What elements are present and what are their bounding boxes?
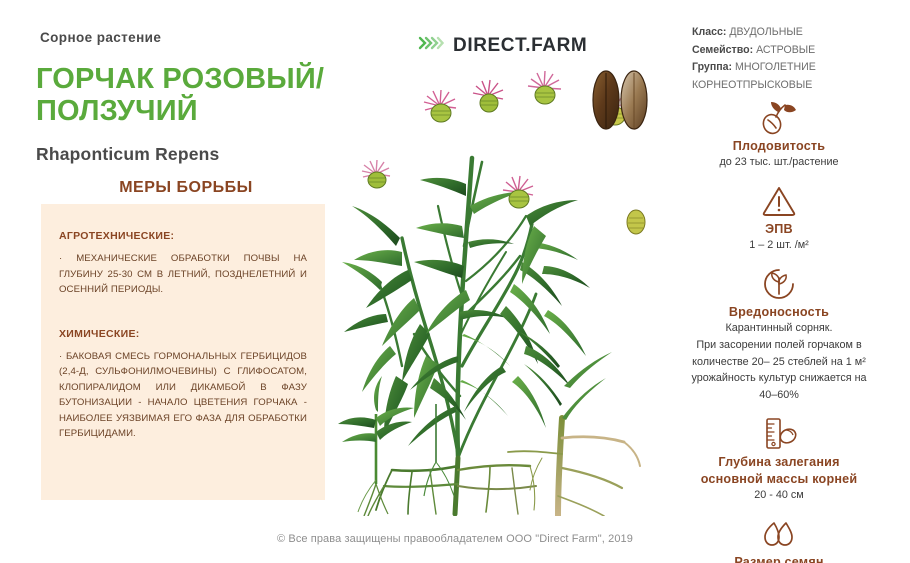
chevrons-icon (418, 34, 444, 57)
classification-row-class: Класс: ДВУДОЛЬНЫЕ (692, 24, 902, 42)
circle-leaf-icon (648, 266, 910, 302)
latin-name: Rhaponticum Repens (36, 144, 336, 165)
fact-epv: ЭПВ 1 – 2 шт. /м² (648, 183, 910, 253)
page-title-line1: ГОРЧАК РОЗОВЫЙ/ (36, 63, 336, 95)
copyright-footer: © Все права защищены правообладателем ОО… (0, 533, 910, 545)
measures-section-title: МЕРЫ БОРЬБЫ (36, 179, 336, 197)
fact-value-root-depth: 20 - 40 см (648, 488, 910, 503)
classification-key-family: Семейство: (692, 44, 753, 56)
fact-harmfulness-line4: урожайность культур снижается на (648, 371, 910, 386)
fact-value-epv: 1 – 2 шт. /м² (648, 238, 910, 253)
classification-value-class: ДВУДОЛЬНЫЕ (729, 26, 802, 38)
fact-title-epv: ЭПВ (648, 222, 910, 236)
measures-heading-chemical: ХИМИЧЕСКИЕ: (59, 328, 307, 340)
page-title: ГОРЧАК РОЗОВЫЙ/ ПОЛЗУЧИЙ (36, 63, 336, 128)
kicker-label: Сорное растение (40, 30, 336, 45)
fact-harmfulness-line1: Карантинный сорняк. (648, 321, 910, 336)
sprouting-seed-icon (648, 100, 910, 136)
page-title-line2: ПОЛЗУЧИЙ (36, 95, 336, 127)
control-measures-box: АГРОТЕХНИЧЕСКИЕ: · МЕХАНИЧЕСКИЕ ОБРАБОТК… (41, 204, 325, 500)
fact-title-root-depth-line2: основной массы корней (648, 472, 910, 486)
classification-row-group-cont: КОРНЕОТПРЫСКОВЫЕ (692, 77, 902, 95)
fact-fertility: Плодовитость до 23 тыс. шт./растение (648, 100, 910, 170)
classification-key-group: Группа: (692, 61, 732, 73)
classification-value-group: МНОГОЛЕТНИЕ (735, 61, 816, 73)
fact-harmfulness-line5: 40–60% (648, 388, 910, 403)
infographic-page: Сорное растение ГОРЧАК РОЗОВЫЙ/ ПОЛЗУЧИЙ… (0, 0, 910, 563)
classification-row-family: Семейство: АСТРОВЫЕ (692, 42, 902, 60)
classification-value-family: АСТРОВЫЕ (756, 44, 815, 56)
facts-column: Плодовитость до 23 тыс. шт./растение ЭПВ… (648, 100, 910, 563)
warning-triangle-icon (648, 183, 910, 219)
fact-title-harmfulness: Вредоносность (648, 305, 910, 319)
classification-value-group-cont: КОРНЕОТПРЫСКОВЫЕ (692, 79, 812, 91)
fact-value-fertility: до 23 тыс. шт./растение (648, 155, 910, 170)
fact-root-depth: Глубина залегания основной массы корней … (648, 416, 910, 503)
fact-harmfulness: Вредоносность Карантинный сорняк. При за… (648, 266, 910, 403)
classification-block: Класс: ДВУДОЛЬНЫЕ Семейство: АСТРОВЫЕ Гр… (692, 24, 902, 94)
measures-body-agrotechnical: · МЕХАНИЧЕСКИЕ ОБРАБОТКИ ПОЧВЫ НА ГЛУБИН… (59, 251, 307, 298)
brand-logo-text: DIRECT.FARM (453, 35, 587, 57)
classification-row-group: Группа: МНОГОЛЕТНИЕ (692, 59, 902, 77)
fact-harmfulness-line2: При засорении полей горчаком в (648, 338, 910, 353)
fact-title-fertility: Плодовитость (648, 139, 910, 153)
measures-heading-agrotechnical: АГРОТЕХНИЧЕСКИЕ: (59, 230, 307, 242)
classification-key-class: Класс: (692, 26, 726, 38)
ruler-seed-icon (648, 416, 910, 452)
fact-title-root-depth: Глубина залегания (648, 455, 910, 469)
fact-harmfulness-line3: количестве 20– 25 стеблей на 1 м² (648, 355, 910, 370)
fact-title-seed-size: Размер семян (648, 555, 910, 563)
russian-knapweed-illustration (330, 66, 660, 516)
brand-logo[interactable]: DIRECT.FARM (418, 34, 587, 57)
left-text-column: Сорное растение ГОРЧАК РОЗОВЫЙ/ ПОЛЗУЧИЙ… (36, 30, 336, 197)
measures-body-chemical: · БАКОВАЯ СМЕСЬ ГОРМОНАЛЬНЫХ ГЕРБИЦИДОВ … (59, 349, 307, 442)
